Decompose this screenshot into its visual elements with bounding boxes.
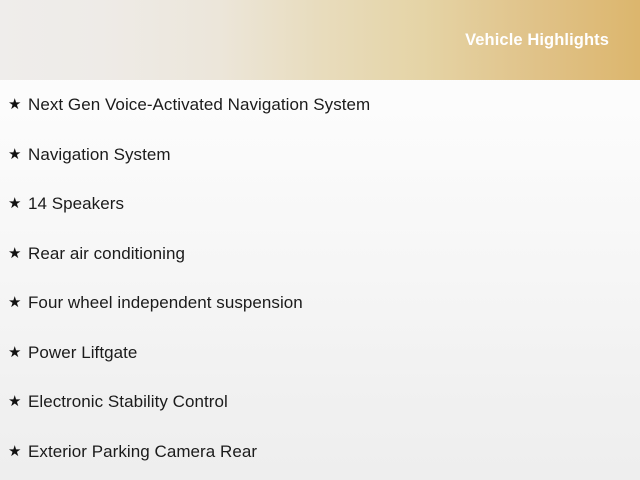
highlight-label: 14 Speakers [28,179,124,229]
list-item: ★ Electronic Stability Control [0,377,640,427]
highlight-label: Next Gen Voice-Activated Navigation Syst… [28,80,370,130]
star-icon: ★ [8,278,22,328]
highlight-label: Rear air conditioning [28,229,185,279]
list-item: ★ Power Liftgate [0,328,640,378]
highlight-label: Electronic Stability Control [28,377,228,427]
vehicle-highlights-page: Vehicle Highlights ★ Next Gen Voice-Acti… [0,0,640,480]
page-header: Vehicle Highlights [0,0,640,80]
list-item: ★ Rear air conditioning [0,229,640,279]
highlight-label: Four wheel independent suspension [28,278,303,328]
list-item: ★ 14 Speakers [0,179,640,229]
star-icon: ★ [8,377,22,427]
star-icon: ★ [8,80,22,130]
star-icon: ★ [8,229,22,279]
star-icon: ★ [8,179,22,229]
list-item: ★ Next Gen Voice-Activated Navigation Sy… [0,80,640,130]
highlight-label: Exterior Parking Camera Rear [28,427,257,477]
vehicle-highlights-list: ★ Next Gen Voice-Activated Navigation Sy… [0,80,640,476]
list-item: ★ Navigation System [0,130,640,180]
highlight-label: Power Liftgate [28,328,137,378]
list-item: ★ Exterior Parking Camera Rear [0,427,640,477]
star-icon: ★ [8,130,22,180]
star-icon: ★ [8,427,22,477]
list-item: ★ Four wheel independent suspension [0,278,640,328]
star-icon: ★ [8,328,22,378]
highlight-label: Navigation System [28,130,171,180]
page-title: Vehicle Highlights [465,30,609,51]
